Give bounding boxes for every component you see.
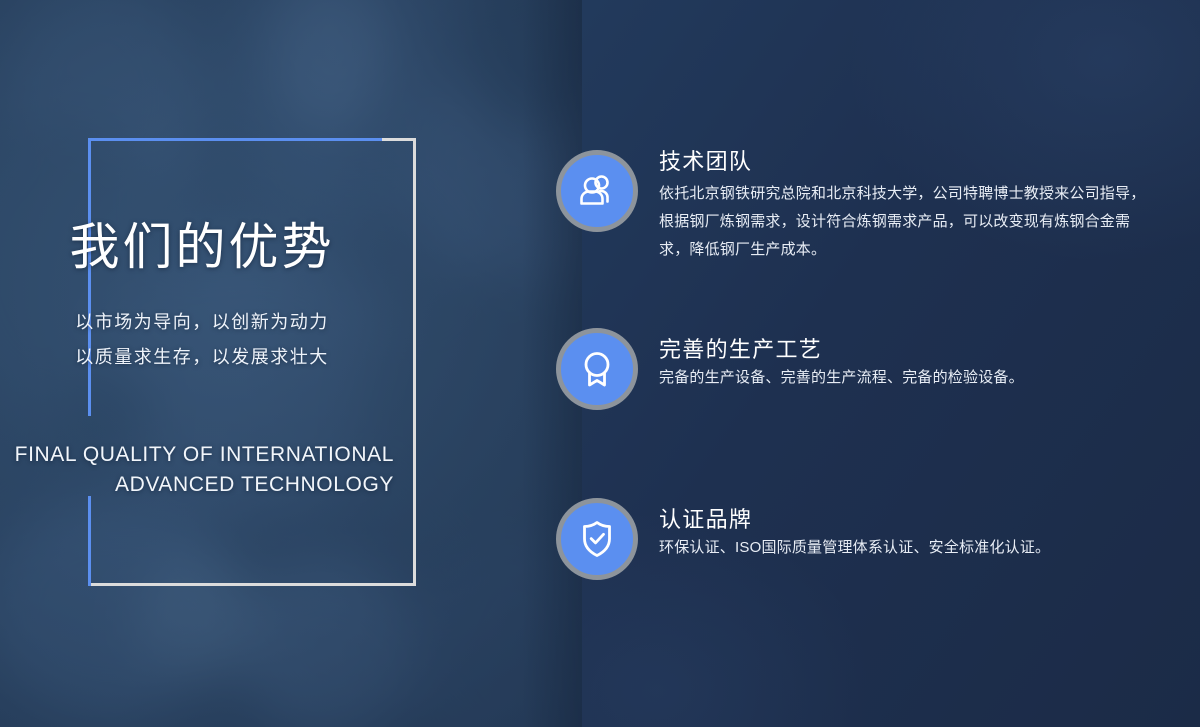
hero-subtitle-line-1: 以市场为导向，以创新为动力: [0, 305, 404, 340]
feature-text: 认证品牌 环保认证、ISO国际质量管理体系认证、安全标准化认证。: [659, 508, 1151, 562]
hero-copy: 我们的优势 以市场为导向，以创新为动力 以质量求生存，以发展求壮大 FINAL …: [0, 0, 582, 727]
page-title: 我们的优势: [0, 222, 404, 272]
feature-description: 依托北京钢铁研究总院和北京科技大学，公司特聘博士教授来公司指导，根据钢厂炼钢需求…: [659, 180, 1151, 264]
hero-english-line-2: ADVANCED TECHNOLOGY: [0, 470, 394, 500]
feature-title: 认证品牌: [659, 508, 1151, 532]
users-group-icon: [556, 150, 638, 232]
feature-title: 完善的生产工艺: [659, 338, 1151, 362]
hero-english-line-1: FINAL QUALITY OF INTERNATIONAL: [0, 440, 394, 470]
award-ribbon-icon: [556, 328, 638, 410]
feature-text: 技术团队 依托北京钢铁研究总院和北京科技大学，公司特聘博士教授来公司指导，根据钢…: [659, 150, 1151, 264]
feature-title: 技术团队: [659, 150, 1151, 174]
feature-text: 完善的生产工艺 完备的生产设备、完善的生产流程、完备的检验设备。: [659, 338, 1151, 392]
feature-description: 完备的生产设备、完善的生产流程、完备的检验设备。: [659, 364, 1151, 392]
advantages-slide: 我们的优势 以市场为导向，以创新为动力 以质量求生存，以发展求壮大 FINAL …: [0, 0, 1200, 727]
left-hero-panel: 我们的优势 以市场为导向，以创新为动力 以质量求生存，以发展求壮大 FINAL …: [0, 0, 582, 727]
feature-description: 环保认证、ISO国际质量管理体系认证、安全标准化认证。: [659, 534, 1151, 562]
hero-english-tagline: FINAL QUALITY OF INTERNATIONAL ADVANCED …: [0, 440, 394, 500]
hero-subtitle-line-2: 以质量求生存，以发展求壮大: [0, 340, 404, 375]
hero-subtitle: 以市场为导向，以创新为动力 以质量求生存，以发展求壮大: [0, 305, 404, 375]
shield-check-icon: [556, 498, 638, 580]
